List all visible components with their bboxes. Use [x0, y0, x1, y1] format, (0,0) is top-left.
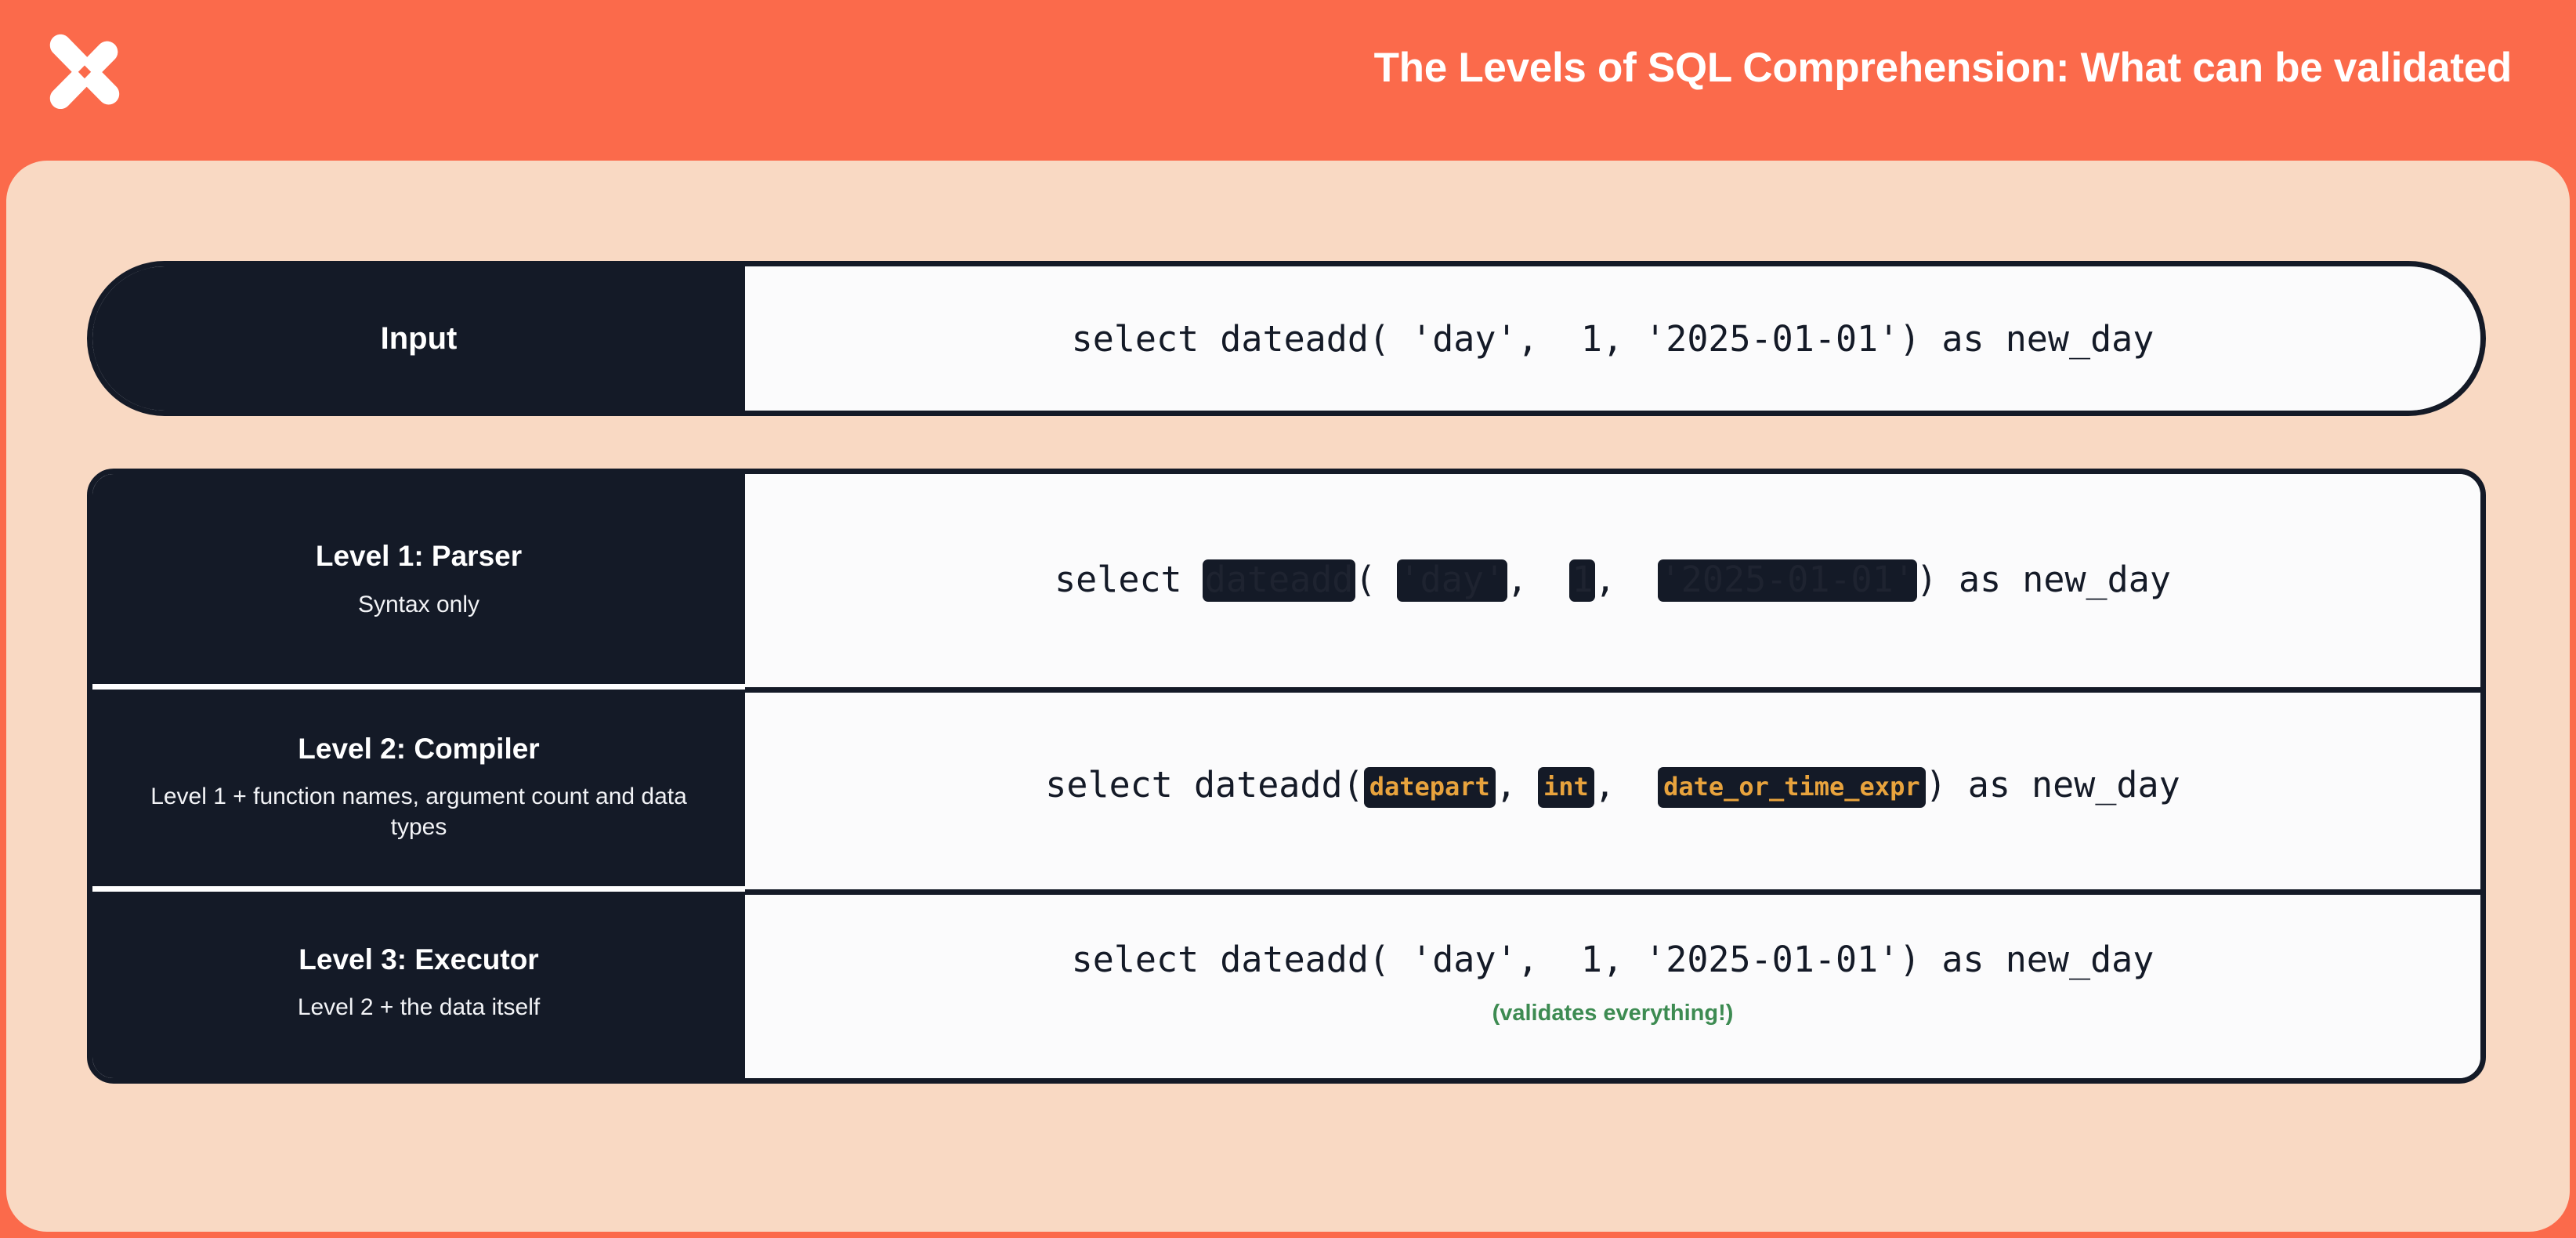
sql-token: select — [1055, 559, 1203, 600]
sql-token: select dateadd( 'day', 1, '2025-01-01') … — [1072, 318, 2155, 360]
level-1-label-cell: Level 1: Parser Syntax only — [92, 474, 745, 687]
page-title: The Levels of SQL Comprehension: What ca… — [1374, 44, 2512, 92]
input-sql-code: select dateadd( 'day', 1, '2025-01-01') … — [1072, 321, 2155, 357]
level-3-note: (validates everything!) — [1492, 1001, 1734, 1026]
sql-token: , — [1594, 559, 1658, 600]
input-row: Input select dateadd( 'day', 1, '2025-01… — [87, 261, 2486, 416]
input-label: Input — [381, 321, 458, 357]
level-3-sql-code: select dateadd( 'day', 1, '2025-01-01') … — [1072, 942, 2155, 977]
levels-card: Level 1: Parser Syntax only select datea… — [87, 469, 2486, 1084]
redacted-token: '2025-01-01' — [1658, 559, 1917, 602]
sql-stack: select dateadd( 'day', 1, '2025-01-01') … — [1055, 559, 2171, 602]
type-chip: int — [1538, 767, 1594, 808]
level-title: Level 1: Parser — [316, 541, 522, 572]
sql-token: , — [1594, 764, 1658, 805]
level-row: Level 1: Parser Syntax only select datea… — [92, 474, 2480, 687]
redacted-token: 1 — [1569, 559, 1595, 602]
level-1-sql-code: select dateadd( 'day', 1, '2025-01-01') … — [1055, 559, 2171, 602]
redacted-token: 'day' — [1397, 559, 1507, 602]
level-row: Level 3: Executor Level 2 + the data its… — [92, 889, 2480, 1078]
redacted-token: dateadd — [1203, 559, 1356, 602]
infographic-root: The Levels of SQL Comprehension: What ca… — [0, 0, 2576, 1238]
sql-token: ) as new_day — [1926, 764, 2180, 805]
type-chip: datepart — [1364, 767, 1496, 808]
sql-token: , — [1496, 764, 1538, 805]
level-1-sql-cell: select dateadd( 'day', 1, '2025-01-01') … — [745, 474, 2480, 687]
input-sql-cell: select dateadd( 'day', 1, '2025-01-01') … — [745, 266, 2480, 411]
level-2-sql-code: select dateadd(datepart, int, date_or_ti… — [1045, 767, 2180, 809]
sql-token: ( — [1355, 559, 1397, 600]
level-2-sql-cell: select dateadd(datepart, int, date_or_ti… — [745, 687, 2480, 889]
x-logo — [33, 24, 136, 127]
input-label-cell: Input — [92, 266, 745, 411]
content-panel: Input select dateadd( 'day', 1, '2025-01… — [6, 161, 2570, 1232]
sql-token: ) as new_day — [1916, 559, 2171, 600]
sql-token: , — [1507, 559, 1570, 600]
sql-stack: select dateadd( 'day', 1, '2025-01-01') … — [1072, 942, 2155, 1026]
sql-token: select dateadd( 'day', 1, '2025-01-01') … — [1072, 939, 2155, 980]
sql-stack: select dateadd(datepart, int, date_or_ti… — [1045, 767, 2180, 809]
level-2-label-cell: Level 2: Compiler Level 1 + function nam… — [92, 687, 745, 889]
level-description: Level 2 + the data itself — [298, 992, 540, 1023]
level-title: Level 3: Executor — [298, 945, 538, 976]
level-description: Syntax only — [358, 589, 479, 620]
level-3-label-cell: Level 3: Executor Level 2 + the data its… — [92, 889, 745, 1078]
type-chip: date_or_time_expr — [1658, 767, 1926, 808]
level-row: Level 2: Compiler Level 1 + function nam… — [92, 687, 2480, 889]
level-description: Level 1 + function names, argument count… — [145, 781, 693, 842]
level-3-sql-cell: select dateadd( 'day', 1, '2025-01-01') … — [745, 889, 2480, 1078]
sql-token: select dateadd( — [1045, 764, 1363, 805]
header-bar: The Levels of SQL Comprehension: What ca… — [0, 0, 2576, 166]
level-title: Level 2: Compiler — [298, 734, 539, 765]
